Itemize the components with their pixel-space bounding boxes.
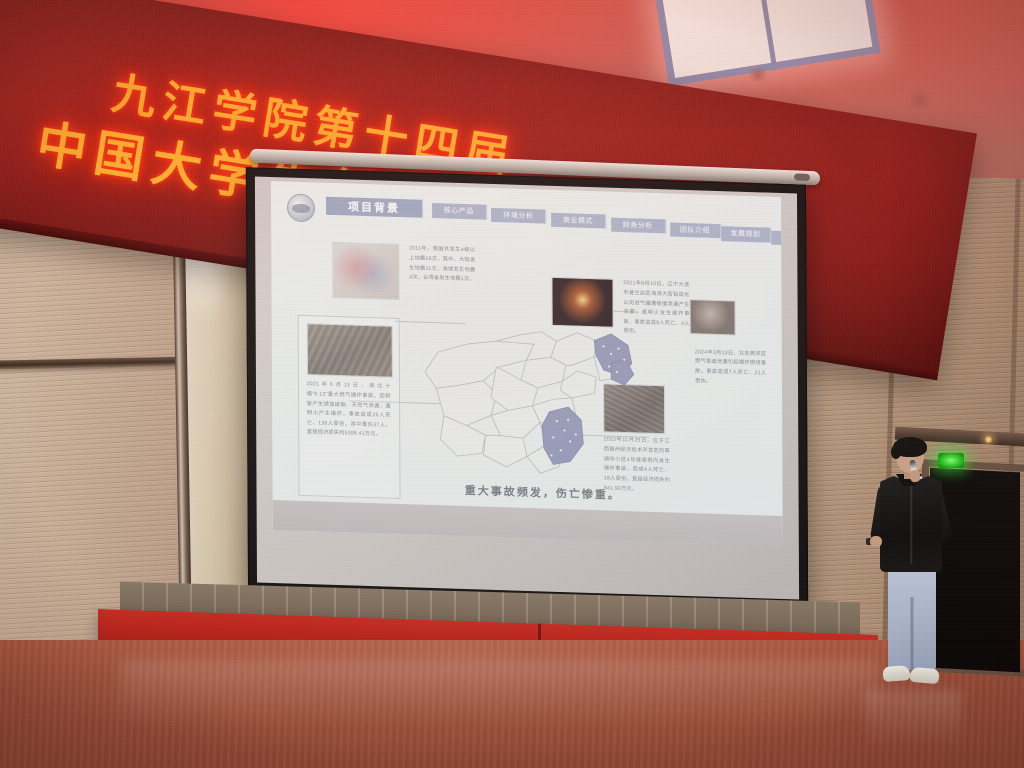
tab-business-model[interactable]: 商业模式 (551, 213, 606, 229)
callout-text-earthquake-2011: 2011年，我国共发生4级以上地震16次，其中，大陆发生地震11次，海域发生地震… (409, 245, 475, 286)
tab-environment-analysis[interactable]: 环境分析 (491, 208, 546, 224)
roller-knob (794, 173, 810, 181)
presenter-hair (893, 437, 927, 457)
ceiling-speaker (745, 68, 771, 81)
floor-reflection (120, 660, 880, 756)
presentation-slide: 项目背景 核心产品 环境分析 商业模式 财务分析 团队介绍 发展规划 融资计划 (271, 181, 782, 546)
callout-image-beijing (690, 299, 736, 335)
tab-financial-analysis[interactable]: 财务分析 (611, 217, 666, 233)
ceiling-downlight (905, 92, 935, 108)
presenter-pants (888, 566, 936, 670)
china-map-graphic (409, 301, 655, 490)
wall-lamp (985, 436, 992, 443)
callout-text-shiyan-gas-2021: 2021年6月13日，湖北十堰“6·13”重大燃气爆炸事故，因铜管产生锈蚀破裂、… (307, 380, 391, 440)
presenter-shoe-right (909, 667, 939, 684)
slide-header: 项目背景 核心产品 环境分析 商业模式 财务分析 团队介绍 发展规划 融资计划 (271, 192, 781, 250)
tab-financing-plan[interactable]: 融资计划 (771, 230, 782, 246)
presenter-hand-clicker (870, 536, 882, 547)
tab-project-background[interactable]: 项目背景 (326, 196, 422, 217)
tab-team-intro[interactable]: 团队介绍 (670, 222, 721, 238)
presenter-shoe-left (883, 665, 911, 682)
tab-core-product[interactable]: 核心产品 (432, 203, 487, 219)
screen-surface: 项目背景 核心产品 环境分析 商业模式 财务分析 团队介绍 发展规划 融资计划 (255, 176, 799, 599)
presenter (866, 440, 962, 702)
slide-tab-bar: 项目背景 核心产品 环境分析 商业模式 财务分析 团队介绍 发展规划 融资计划 (317, 194, 776, 244)
presenter-jacket (880, 476, 942, 572)
tab-development-plan[interactable]: 发展规划 (721, 226, 772, 242)
callout-image-earthquake-map (333, 242, 400, 300)
projection-screen: 项目背景 核心产品 环境分析 商业模式 财务分析 团队介绍 发展规划 融资计划 (246, 167, 808, 609)
callout-image-shiyan (306, 323, 392, 378)
photo-scene: 九江学院第十四届 中国大学生创业计划竞赛决赛 项目背景 核心产品 环境分析 商业… (0, 0, 1024, 768)
university-logo-icon (287, 194, 315, 223)
callout-box-shiyan: 2021年6月13日，湖北十堰“6·13”重大燃气爆炸事故，因铜管产生锈蚀破裂、… (297, 315, 400, 500)
presenter-floor-reflection (866, 690, 962, 750)
callout-text-beijing-2024: 2024年3月13日，北京燕郊区燃气管道泄漏引起爆炸燃烧事故，事故造成7人死亡、… (695, 348, 767, 389)
